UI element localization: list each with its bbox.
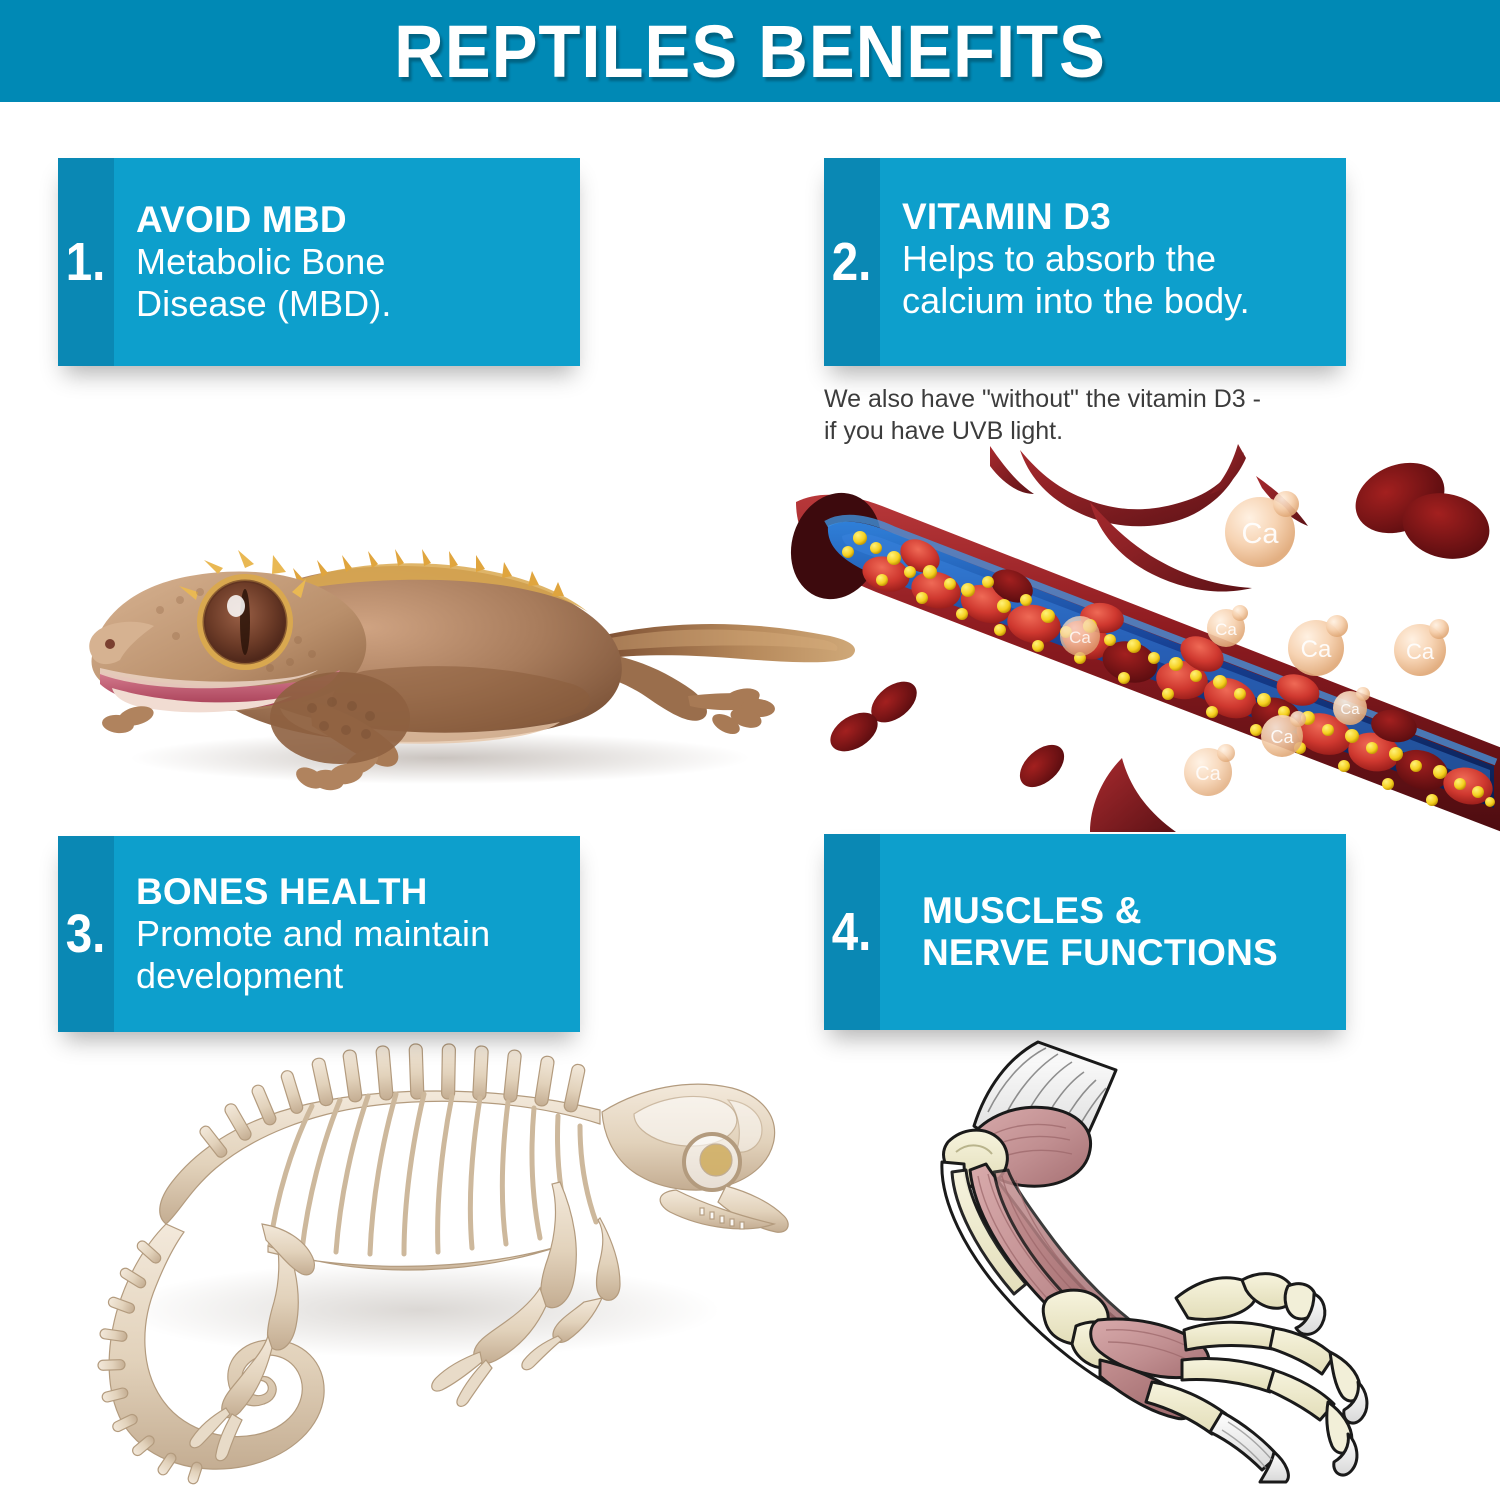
card-number-4: 4. <box>832 905 872 959</box>
chameleon-skeleton-photo <box>40 1040 790 1480</box>
blood-vessel-calcium-illustration: Ca Ca Ca Ca <box>790 440 1500 840</box>
card-body-3: BONES HEALTH Promote and maintain develo… <box>114 836 580 1032</box>
svg-text:Ca: Ca <box>1195 763 1221 785</box>
card-number-strip-2: 2. <box>824 158 880 366</box>
card-text-2: Helps to absorb the calcium into the bod… <box>902 238 1332 322</box>
card-number-strip-3: 3. <box>58 836 114 1032</box>
card-number-strip-4: 4. <box>824 834 880 1030</box>
benefit-card-2[interactable]: 2. VITAMIN D3 Helps to absorb the calciu… <box>824 158 1346 366</box>
svg-text:Ca: Ca <box>1069 628 1091 647</box>
card-title-4: MUSCLES & NERVE FUNCTIONS <box>922 890 1332 974</box>
svg-text:Ca: Ca <box>1215 620 1237 639</box>
benefit-card-3[interactable]: 3. BONES HEALTH Promote and maintain dev… <box>58 836 580 1032</box>
card-title-3: BONES HEALTH <box>136 871 566 913</box>
reptile-limb-anatomy-illustration <box>930 1030 1400 1482</box>
benefit-card-1[interactable]: 1. AVOID MBD Metabolic Bone Disease (MBD… <box>58 158 580 366</box>
svg-text:Ca: Ca <box>1301 636 1332 663</box>
card-body-2: VITAMIN D3 Helps to absorb the calcium i… <box>880 158 1346 366</box>
card-number-3: 3. <box>66 907 106 961</box>
card-body-1: AVOID MBD Metabolic Bone Disease (MBD). <box>114 158 580 366</box>
svg-text:Ca: Ca <box>1406 639 1435 664</box>
benefit-card-4[interactable]: 4. MUSCLES & NERVE FUNCTIONS <box>824 834 1346 1030</box>
card-number-2: 2. <box>832 235 872 289</box>
card-number-strip-1: 1. <box>58 158 114 366</box>
card-number-1: 1. <box>66 235 106 289</box>
card-title-1: AVOID MBD <box>136 199 566 241</box>
svg-text:Ca: Ca <box>1340 701 1360 718</box>
card-caption-2: We also have "without" the vitamin D3 - … <box>824 383 1369 447</box>
svg-text:Ca: Ca <box>1270 727 1294 747</box>
svg-text:Ca: Ca <box>1241 518 1279 550</box>
infographic-page: REPTILES BENEFITS <box>0 0 1500 1497</box>
card-title-2: VITAMIN D3 <box>902 196 1332 238</box>
card-text-3: Promote and maintain development <box>136 913 566 997</box>
page-title: REPTILES BENEFITS <box>53 10 1448 94</box>
crested-gecko-photo <box>40 440 870 810</box>
card-body-4: MUSCLES & NERVE FUNCTIONS <box>880 834 1346 1030</box>
card-text-1: Metabolic Bone Disease (MBD). <box>136 241 566 325</box>
